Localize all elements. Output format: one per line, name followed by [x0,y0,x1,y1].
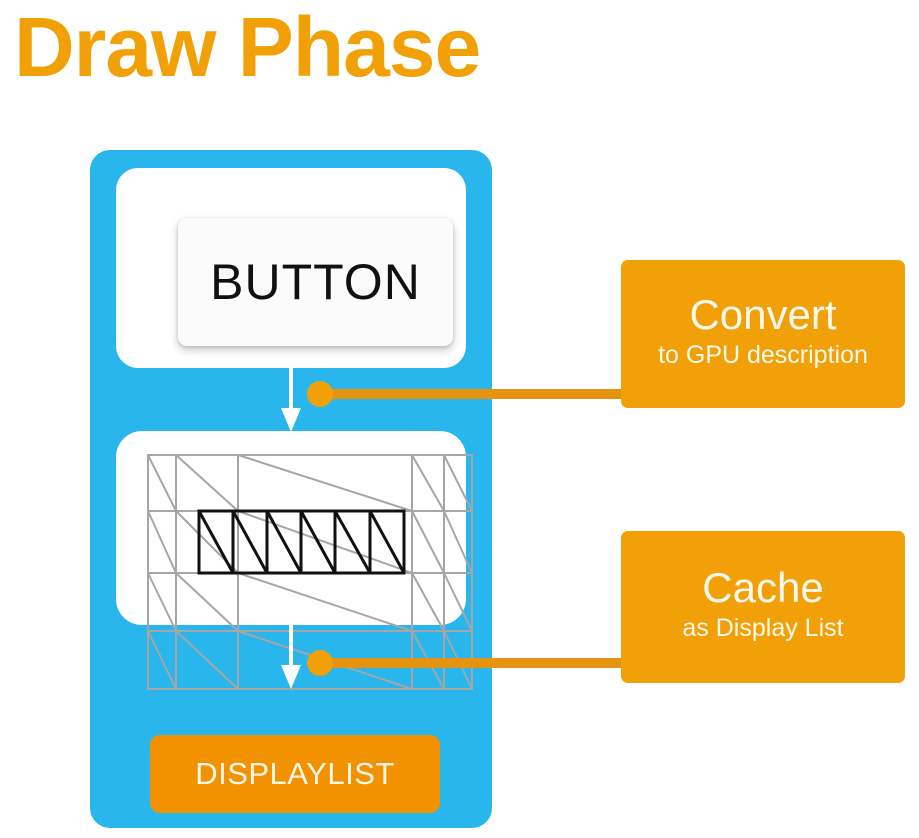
leader-dot-convert-icon [307,381,333,407]
arrow-button-to-mesh-icon [280,366,302,434]
callout-cache-title: Cache [702,565,823,611]
callout-cache[interactable]: Cache as Display List [621,531,905,683]
pipeline-panel: BUTTON [90,150,492,828]
leader-dot-cache-icon [307,650,333,676]
displaylist-chip[interactable]: DISPLAYLIST [150,735,440,813]
displaylist-label: DISPLAYLIST [195,756,395,792]
button-stage-card: BUTTON [116,168,466,368]
callout-convert[interactable]: Convert to GPU description [621,260,905,408]
arrow-mesh-to-displaylist-icon [280,623,302,691]
callout-convert-title: Convert [689,292,836,338]
button-widget-label: BUTTON [210,253,421,311]
leader-line-cache [318,658,623,668]
mesh-stage-card [116,431,466,625]
callout-convert-subtitle: to GPU description [658,340,868,370]
page-title: Draw Phase [14,2,480,93]
leader-line-convert [318,389,623,399]
callout-cache-subtitle: as Display List [682,613,843,643]
button-widget[interactable]: BUTTON [178,218,453,346]
